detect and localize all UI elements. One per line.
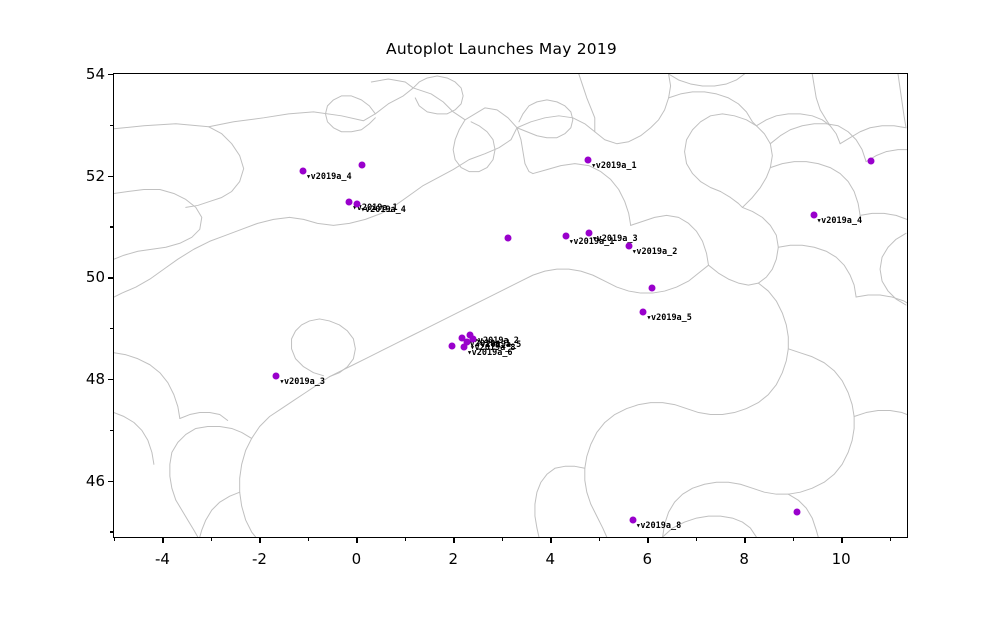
y-tick-mark xyxy=(108,379,114,380)
x-tick-mark xyxy=(453,537,454,543)
scatter-point-label: ▾v2019a_4 xyxy=(306,172,352,182)
y-tick-mark xyxy=(108,176,114,177)
x-tick-mark xyxy=(259,537,260,543)
x-tick-label: 0 xyxy=(352,550,362,568)
scatter-point xyxy=(449,342,456,349)
figure: Autoplot Launches May 2019 xyxy=(0,0,1003,633)
y-minor-tick xyxy=(110,430,114,431)
x-tick-label: 2 xyxy=(449,550,459,568)
y-tick-label: 52 xyxy=(86,167,105,185)
x-tick-label: -2 xyxy=(252,550,267,568)
x-tick-label: 10 xyxy=(832,550,851,568)
scatter-point-label: ▾v2019a_2 xyxy=(632,247,678,257)
scatter-point-label: ▾v2019a_6 xyxy=(467,348,513,358)
scatter-point xyxy=(793,509,800,516)
y-minor-tick xyxy=(110,226,114,227)
scatter-point-label: ▾v2019a_5 xyxy=(646,313,692,323)
x-tick-mark xyxy=(744,537,745,543)
y-minor-tick xyxy=(110,125,114,126)
x-tick-label: -4 xyxy=(155,550,170,568)
y-tick-mark xyxy=(108,277,114,278)
scatter-point xyxy=(649,285,656,292)
x-tick-mark xyxy=(550,537,551,543)
x-tick-mark xyxy=(162,537,163,543)
y-tick-label: 50 xyxy=(86,268,105,286)
scatter-points-layer: ▾v2019a_4▾v2019a_1▾v2019a_4▾v2019a_3▾v20… xyxy=(114,74,907,537)
x-minor-tick xyxy=(405,537,406,541)
x-tick-label: 8 xyxy=(739,550,749,568)
y-tick-label: 54 xyxy=(86,65,105,83)
x-minor-tick xyxy=(211,537,212,541)
y-minor-tick xyxy=(110,531,114,532)
x-tick-mark xyxy=(356,537,357,543)
scatter-point-label: ▾v2019a_1 xyxy=(591,161,637,171)
page-title: Autoplot Launches May 2019 xyxy=(0,40,1003,58)
scatter-point-label: ▾v2019a_4 xyxy=(360,205,406,215)
scatter-point xyxy=(359,162,366,169)
x-minor-tick xyxy=(599,537,600,541)
x-minor-tick xyxy=(308,537,309,541)
plot-area: ▾v2019a_4▾v2019a_1▾v2019a_4▾v2019a_3▾v20… xyxy=(113,73,908,538)
x-minor-tick xyxy=(502,537,503,541)
scatter-point xyxy=(868,158,875,165)
x-tick-label: 4 xyxy=(545,550,555,568)
x-tick-mark xyxy=(647,537,648,543)
x-tick-label: 6 xyxy=(642,550,652,568)
y-tick-label: 46 xyxy=(86,472,105,490)
scatter-point-label: ▾v2019a_3 xyxy=(279,377,325,387)
scatter-point-label: ▾v2019a_4 xyxy=(817,216,863,226)
x-tick-mark xyxy=(841,537,842,543)
y-tick-label: 48 xyxy=(86,370,105,388)
scatter-point-label: ▾v2019a_8 xyxy=(636,521,682,531)
x-minor-tick xyxy=(114,537,115,541)
x-minor-tick xyxy=(696,537,697,541)
y-minor-tick xyxy=(110,328,114,329)
x-minor-tick xyxy=(793,537,794,541)
x-minor-tick xyxy=(890,537,891,541)
y-tick-mark xyxy=(108,481,114,482)
scatter-point xyxy=(504,234,511,241)
y-tick-mark xyxy=(108,74,114,75)
